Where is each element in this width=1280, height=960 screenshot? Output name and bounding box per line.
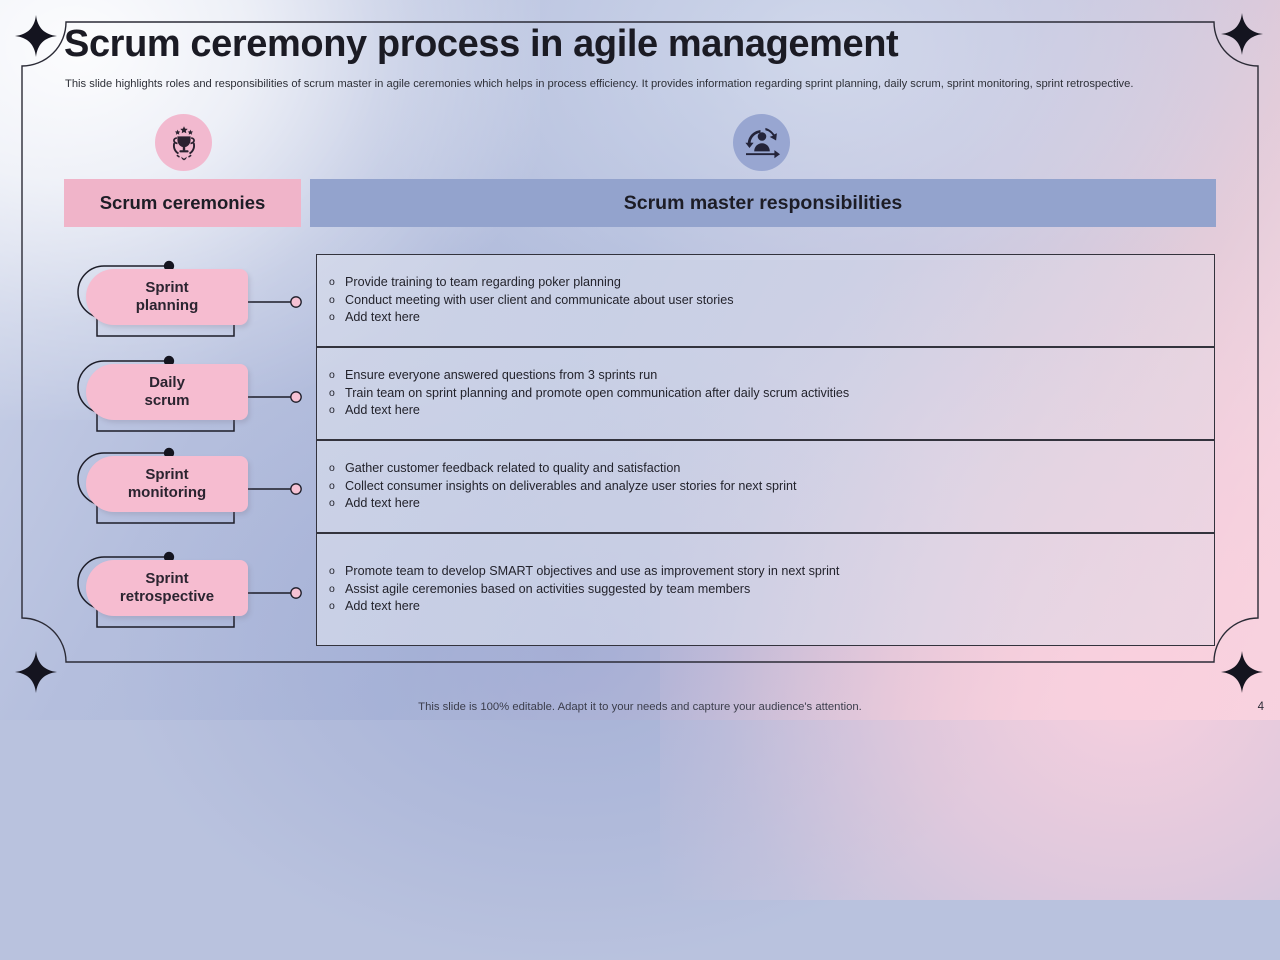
ceremony-label-line2: monitoring (128, 484, 206, 501)
list-item: Conduct meeting with user client and com… (327, 292, 1214, 308)
ceremony-label-line1: Sprint (145, 466, 188, 483)
ceremony-item-sprint-monitoring[interactable]: Sprint monitoring (64, 445, 314, 537)
page-title: Scrum ceremony process in agile manageme… (64, 24, 1184, 66)
ceremony-label-line1: Daily (149, 374, 185, 391)
list-item: Provide training to team regarding poker… (327, 274, 1214, 290)
list-item: Train team on sprint planning and promot… (327, 385, 1214, 401)
trophy-laurel-icon (155, 114, 212, 171)
list-item: Ensure everyone answered questions from … (327, 367, 1214, 383)
bullet-list: Provide training to team regarding poker… (327, 274, 1214, 328)
list-item: Assist agile ceremonies based on activit… (327, 581, 1214, 597)
responsibility-row-sprint-monitoring: Gather customer feedback related to qual… (316, 440, 1215, 533)
ceremony-label-line2: retrospective (120, 588, 214, 605)
ceremony-label-line1: Sprint (145, 279, 188, 296)
page-subtitle: This slide highlights roles and responsi… (65, 77, 1225, 92)
ceremony-pill-label: Sprint planning (86, 269, 248, 325)
list-item: Add text here (327, 495, 1214, 511)
ceremony-pill-label: Sprint monitoring (86, 456, 248, 512)
ceremony-pill-label: Sprint retrospective (86, 560, 248, 616)
list-item: Add text here (327, 402, 1214, 418)
ceremony-item-daily-scrum[interactable]: Daily scrum (64, 353, 314, 445)
responsibility-row-sprint-planning: Provide training to team regarding poker… (316, 254, 1215, 347)
footer-note: This slide is 100% editable. Adapt it to… (0, 701, 1280, 713)
responsibility-row-daily-scrum: Ensure everyone answered questions from … (316, 347, 1215, 440)
bullet-list: Gather customer feedback related to qual… (327, 460, 1214, 514)
bullet-list: Ensure everyone answered questions from … (327, 367, 1214, 421)
bullet-list: Promote team to develop SMART objectives… (327, 563, 1214, 617)
ceremony-label-line2: scrum (144, 392, 189, 409)
column-header-ceremonies: Scrum ceremonies (64, 179, 301, 227)
list-item: Add text here (327, 598, 1214, 614)
responsibility-row-sprint-retrospective: Promote team to develop SMART objectives… (316, 533, 1215, 646)
ceremony-item-sprint-retrospective[interactable]: Sprint retrospective (64, 549, 314, 641)
ceremony-label-line1: Sprint (145, 570, 188, 587)
list-item: Add text here (327, 309, 1214, 325)
column-header-responsibilities: Scrum master responsibilities (310, 179, 1216, 227)
list-item: Gather customer feedback related to qual… (327, 460, 1214, 476)
list-item: Promote team to develop SMART objectives… (327, 563, 1214, 579)
ceremony-item-sprint-planning[interactable]: Sprint planning (64, 258, 314, 350)
page-number: 4 (1258, 701, 1264, 713)
list-item: Collect consumer insights on deliverable… (327, 478, 1214, 494)
ceremony-pill-label: Daily scrum (86, 364, 248, 420)
ceremony-label-line2: planning (136, 297, 199, 314)
agile-person-cycle-icon (733, 114, 790, 171)
